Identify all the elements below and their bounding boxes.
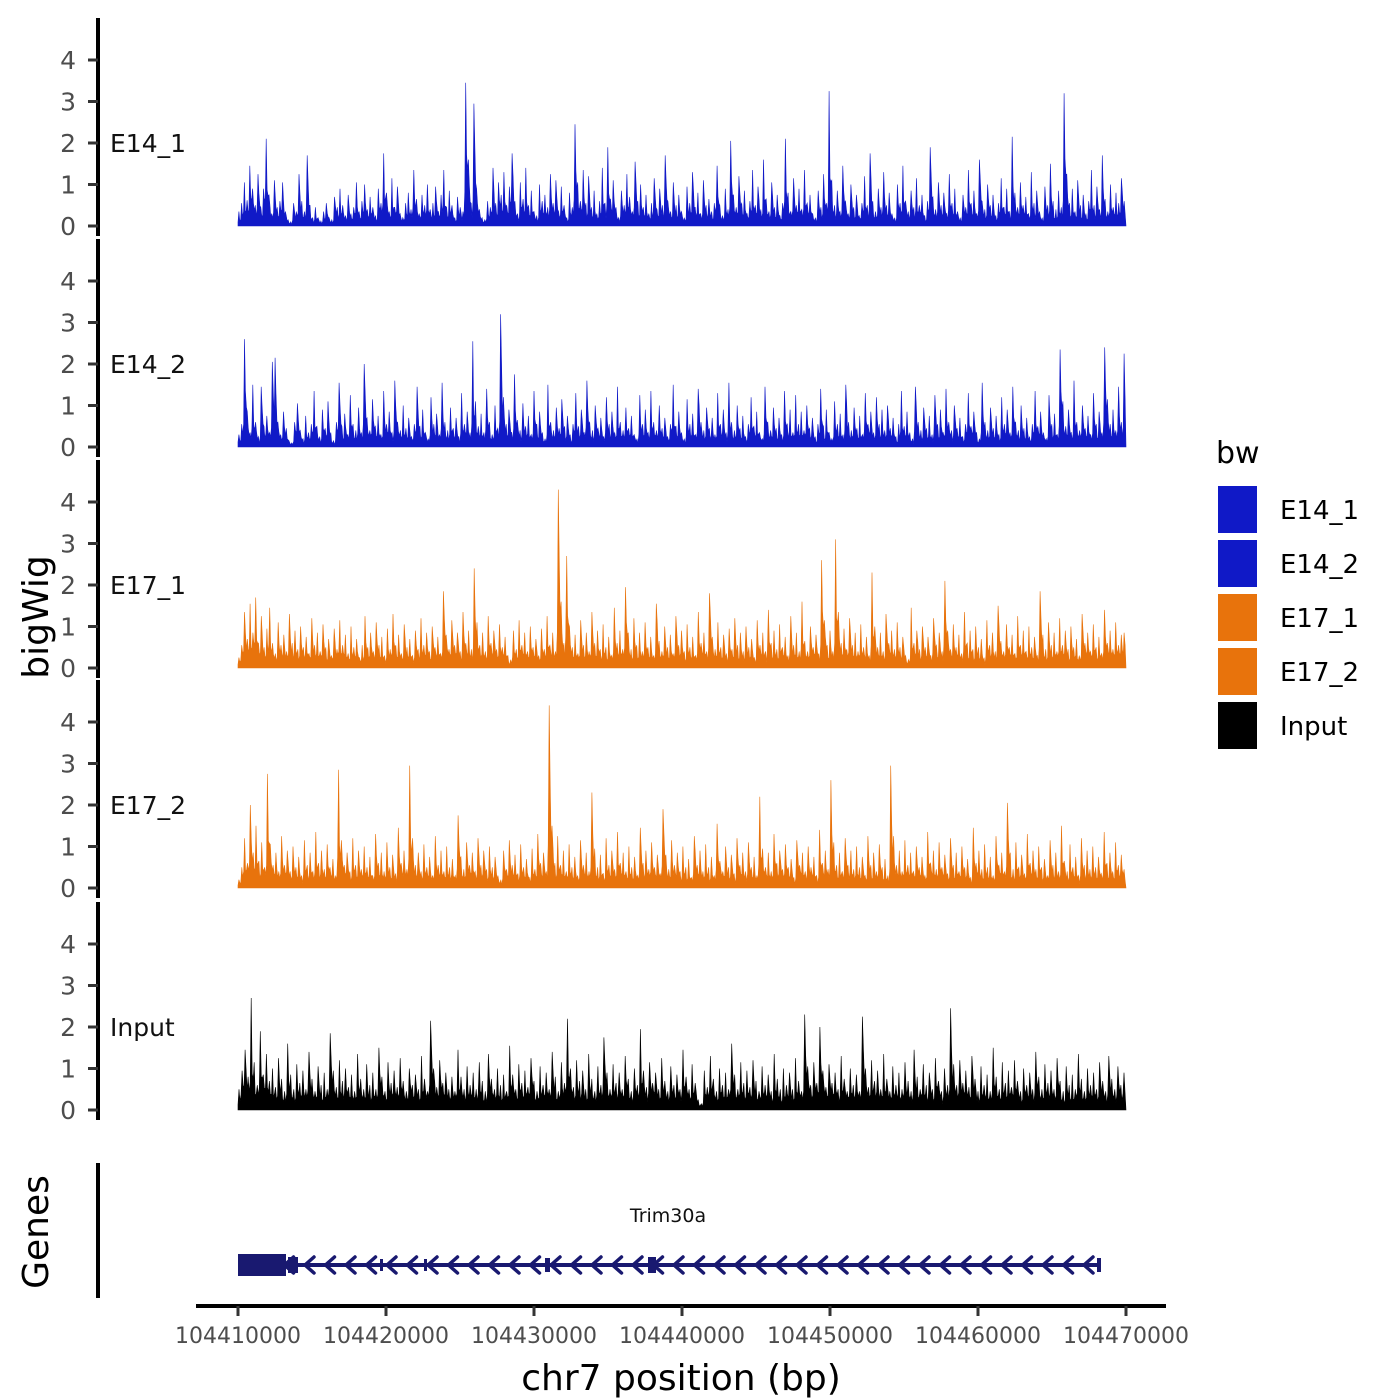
y-axis-title-bigwig: bigWig — [16, 555, 57, 678]
x-tick-label-104410000: 104410000 — [175, 1324, 301, 1349]
x-tick-label-104440000: 104440000 — [619, 1324, 745, 1349]
y-tick-label-input-3: 3 — [60, 972, 76, 1001]
track-e14_1: 01234E14_1 — [60, 18, 1126, 241]
y-tick-label-input-1: 1 — [60, 1055, 76, 1084]
y-tick-label-input-2: 2 — [60, 1013, 76, 1042]
y-tick-label-e17_2-3: 3 — [60, 750, 76, 779]
track-name-e14_1: E14_1 — [110, 129, 186, 158]
gene-label-trim30a: Trim30a — [629, 1205, 706, 1227]
wig-area-input — [238, 998, 1126, 1110]
genes-panel: Trim30a104410000104420000104430000104440… — [98, 1163, 1189, 1399]
y-tick-label-e17_2-4: 4 — [60, 708, 76, 737]
track-e17_2: 01234E17_2 — [60, 680, 1126, 903]
y-tick-label-e14_1-0: 0 — [60, 212, 76, 241]
gene-exon-1 — [238, 1254, 286, 1276]
legend-swatch-e17_2[interactable] — [1218, 648, 1257, 695]
x-tick-label-104460000: 104460000 — [915, 1324, 1041, 1349]
y-tick-label-e14_1-4: 4 — [60, 46, 76, 75]
legend-swatch-e17_1[interactable] — [1218, 594, 1257, 641]
y-tick-label-e14_1-2: 2 — [60, 129, 76, 158]
x-tick-label-104420000: 104420000 — [323, 1324, 449, 1349]
y-tick-label-e14_1-3: 3 — [60, 88, 76, 117]
y-tick-label-e14_1-1: 1 — [60, 171, 76, 200]
legend-label-e14_2: E14_2 — [1280, 550, 1359, 580]
wig-area-e14_2 — [238, 314, 1126, 447]
y-tick-label-e17_2-1: 1 — [60, 833, 76, 862]
y-tick-label-input-4: 4 — [60, 930, 76, 959]
x-axis-title: chr7 position (bp) — [521, 1358, 841, 1399]
gene-exon-3 — [380, 1259, 383, 1271]
legend-swatch-input[interactable] — [1218, 702, 1257, 749]
legend-title: bw — [1216, 436, 1260, 471]
y-tick-label-e17_2-2: 2 — [60, 791, 76, 820]
track-input: 01234Input — [60, 902, 1126, 1125]
wig-area-e14_1 — [238, 83, 1126, 226]
gene-exon-2 — [288, 1257, 298, 1273]
y-tick-label-e14_2-1: 1 — [60, 392, 76, 421]
track-name-e17_1: E17_1 — [110, 571, 186, 600]
x-tick-label-104470000: 104470000 — [1063, 1324, 1189, 1349]
gene-exon-7 — [1097, 1258, 1101, 1272]
legend-swatch-e14_2[interactable] — [1218, 540, 1257, 587]
legend-label-input: Input — [1280, 712, 1347, 742]
legend-label-e17_1: E17_1 — [1280, 604, 1359, 634]
wig-area-e17_2 — [238, 705, 1126, 888]
wig-area-e17_1 — [238, 490, 1126, 668]
x-tick-label-104430000: 104430000 — [471, 1324, 597, 1349]
legend-label-e14_1: E14_1 — [1280, 496, 1359, 526]
y-tick-label-e14_2-2: 2 — [60, 350, 76, 379]
y-tick-label-input-0: 0 — [60, 1096, 76, 1125]
legend: bwE14_1E14_2E17_1E17_2Input — [1216, 436, 1359, 749]
legend-swatch-e14_1[interactable] — [1218, 486, 1257, 533]
y-tick-label-e17_2-0: 0 — [60, 874, 76, 903]
track-name-input: Input — [110, 1013, 175, 1042]
axis-titles: bigWigGenes — [16, 555, 57, 1289]
y-tick-label-e14_2-0: 0 — [60, 433, 76, 462]
legend-label-e17_2: E17_2 — [1280, 658, 1359, 688]
y-tick-label-e17_1-2: 2 — [60, 571, 76, 600]
y-tick-label-e14_2-4: 4 — [60, 267, 76, 296]
track-name-e17_2: E17_2 — [110, 791, 186, 820]
y-tick-label-e14_2-3: 3 — [60, 309, 76, 338]
figure-canvas: 01234E14_101234E14_201234E17_101234E17_2… — [0, 0, 1400, 1400]
track-e14_2: 01234E14_2 — [60, 239, 1126, 462]
genome-browser-figure: 01234E14_101234E14_201234E17_101234E17_2… — [0, 0, 1400, 1400]
y-axis-title-genes: Genes — [16, 1175, 57, 1289]
gene-exon-4 — [424, 1259, 427, 1271]
gene-exon-6 — [648, 1257, 656, 1273]
track-e17_1: 01234E17_1 — [60, 460, 1126, 683]
y-tick-label-e17_1-3: 3 — [60, 530, 76, 559]
y-tick-label-e17_1-1: 1 — [60, 613, 76, 642]
x-tick-label-104450000: 104450000 — [767, 1324, 893, 1349]
track-name-e14_2: E14_2 — [110, 350, 186, 379]
y-tick-label-e17_1-0: 0 — [60, 654, 76, 683]
gene-trim30a: Trim30a — [238, 1205, 1101, 1276]
gene-exon-5 — [545, 1258, 550, 1272]
y-tick-label-e17_1-4: 4 — [60, 488, 76, 517]
